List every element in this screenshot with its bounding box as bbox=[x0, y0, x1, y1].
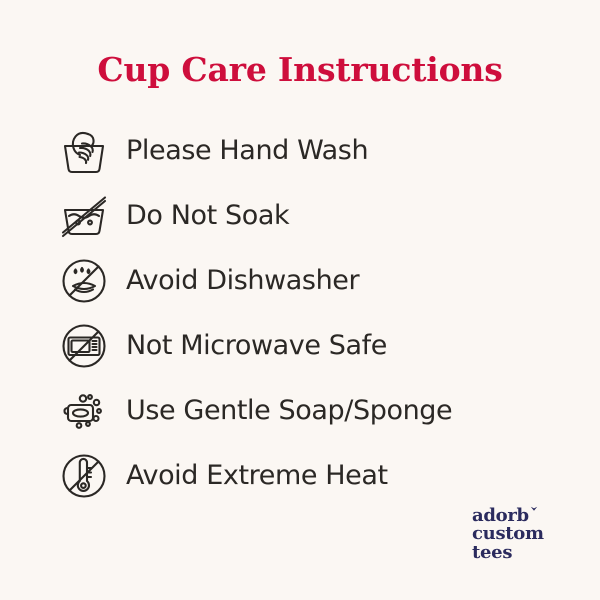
instructions-list: Please Hand Wash Do Not Soak bbox=[52, 118, 552, 508]
list-item: Do Not Soak bbox=[52, 183, 552, 248]
hand-wash-icon bbox=[52, 123, 126, 179]
no-extreme-heat-icon bbox=[52, 448, 126, 504]
do-not-soak-icon bbox=[52, 188, 126, 244]
no-microwave-icon bbox=[52, 318, 126, 374]
brand-logo[interactable]: adorb custom tees bbox=[472, 507, 592, 562]
list-item-label: Avoid Dishwasher bbox=[126, 267, 359, 294]
list-item-label: Do Not Soak bbox=[126, 202, 289, 229]
list-item-label: Please Hand Wash bbox=[126, 137, 368, 164]
list-item: Use Gentle Soap/Sponge bbox=[52, 378, 552, 443]
logo-brand-name: adorb bbox=[472, 505, 529, 526]
logo-line-2: custom bbox=[472, 525, 592, 543]
no-dishwasher-icon bbox=[52, 253, 126, 309]
list-item: Please Hand Wash bbox=[52, 118, 552, 183]
logo-line-1: adorb bbox=[472, 507, 529, 525]
list-item: Avoid Extreme Heat bbox=[52, 443, 552, 508]
list-item-label: Not Microwave Safe bbox=[126, 332, 387, 359]
page-title: Cup Care Instructions bbox=[0, 52, 600, 88]
soap-sponge-icon bbox=[52, 383, 126, 439]
apostrophe-heart-icon bbox=[530, 506, 538, 514]
list-item-label: Avoid Extreme Heat bbox=[126, 462, 388, 489]
list-item: Not Microwave Safe bbox=[52, 313, 552, 378]
cup-care-instructions-card: Cup Care Instructions Please Hand Wash bbox=[0, 0, 600, 600]
logo-line-3: tees bbox=[472, 544, 592, 562]
list-item-label: Use Gentle Soap/Sponge bbox=[126, 397, 452, 424]
list-item: Avoid Dishwasher bbox=[52, 248, 552, 313]
